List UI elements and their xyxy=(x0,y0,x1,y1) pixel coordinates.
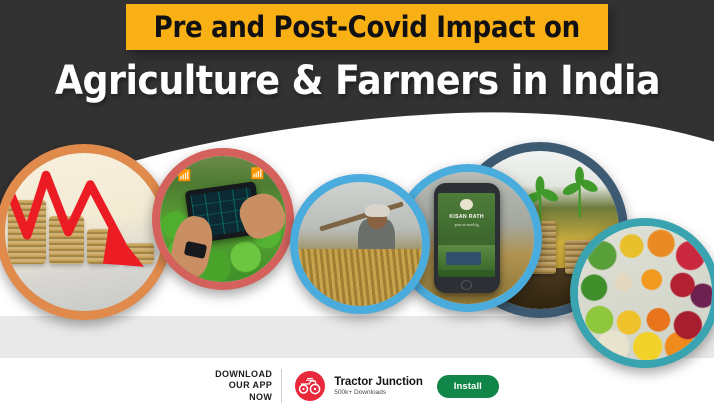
app-screen: KISAN RATH कृषक एवं व्यापारी हेतु xyxy=(438,193,495,277)
declining-coins-chart-art xyxy=(5,153,163,311)
download-line-1: DOWNLOAD xyxy=(215,369,272,381)
title-highlight-text: Pre and Post-Covid Impact on xyxy=(154,10,580,44)
promotional-banner: Pre and Post-Covid Impact on Agriculture… xyxy=(0,0,714,414)
circle-image-indian-farmer xyxy=(290,174,430,314)
phone-home-button xyxy=(461,280,472,290)
fruits-vegetables-art xyxy=(578,226,712,360)
title-highlight-bar: Pre and Post-Covid Impact on xyxy=(126,4,608,50)
download-line-2: OUR APP xyxy=(215,380,272,392)
download-line-3: NOW xyxy=(215,392,272,404)
app-hero-photo xyxy=(438,245,495,270)
app-name: Tractor Junction xyxy=(334,376,423,388)
circle-image-smart-farming-tablet: 📶 📶 xyxy=(152,148,294,290)
title-main-row: Agriculture & Farmers in India xyxy=(0,58,714,104)
circle-image-declining-coins-chart xyxy=(0,144,172,320)
footer-divider xyxy=(281,369,282,403)
indian-farmer-art xyxy=(298,182,422,306)
smart-farming-tablet-art: 📶 📶 xyxy=(160,156,286,282)
circle-image-fruits-vegetables xyxy=(570,218,714,368)
declining-arrow-icon xyxy=(5,153,163,311)
wifi-icon: 📶 xyxy=(251,169,265,180)
download-prompt: DOWNLOAD OUR APP NOW xyxy=(215,369,281,404)
wheat-crop xyxy=(298,249,422,306)
smartphone-device: KISAN RATH कृषक एवं व्यापारी हेतु xyxy=(434,183,500,294)
tractor-icon xyxy=(298,377,322,395)
government-emblem-icon xyxy=(460,199,472,210)
title-main-text: Agriculture & Farmers in India xyxy=(54,58,659,104)
app-download-count: 500k+ Downloads xyxy=(334,389,423,396)
app-subtitle-text: कृषक एवं व्यापारी हेतु xyxy=(438,223,495,228)
tractor-junction-logo-icon[interactable] xyxy=(295,371,325,401)
install-button[interactable]: Install xyxy=(437,375,499,398)
app-title-text: KISAN RATH xyxy=(438,214,495,220)
wifi-icon: 📶 xyxy=(178,171,192,182)
farmer-turban xyxy=(365,204,390,216)
app-info: Tractor Junction 500k+ Downloads xyxy=(334,376,423,396)
app-download-footer: DOWNLOAD OUR APP NOW Tractor J xyxy=(0,358,714,414)
